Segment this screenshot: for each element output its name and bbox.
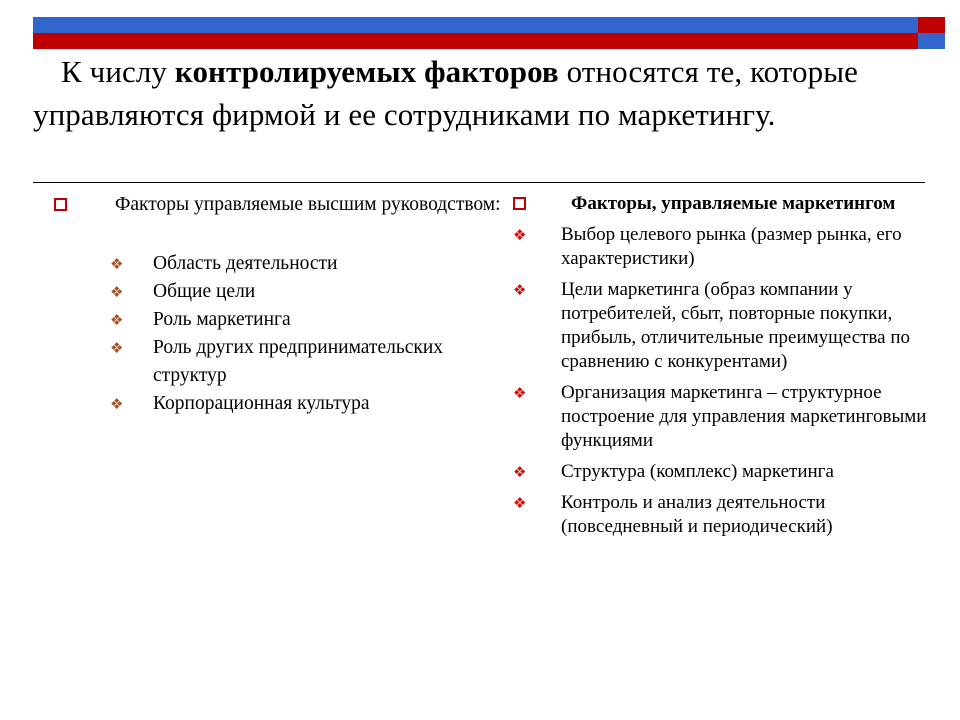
- content-column-right: Факторы, управляемые маркетингом ❖ Выбор…: [503, 192, 933, 539]
- right-bullet-list: Факторы, управляемые маркетингом ❖ Выбор…: [503, 192, 933, 539]
- decoration-bar-bottom-blue-segment: [918, 33, 945, 49]
- diamond-bullet-icon: ❖: [513, 381, 539, 405]
- list-item: ❖ Область деятельности: [48, 250, 503, 278]
- list-item: ❖ Роль маркетинга: [48, 306, 503, 334]
- list-item-label: Общие цели: [153, 278, 503, 306]
- list-item: ❖ Выбор целевого рынка (размер рынка, ег…: [503, 223, 933, 271]
- list-item-label: Роль маркетинга: [153, 306, 503, 334]
- list-item-label: Корпорационная культура: [153, 390, 503, 418]
- title-emphasis-text: контролируемых факторов: [175, 54, 559, 89]
- list-item-label: Выбор целевого рынка (размер рынка, его …: [561, 223, 933, 271]
- decoration-bar-bottom-red-segment: [33, 33, 918, 49]
- right-column-heading-label: Факторы, управляемые маркетингом: [561, 192, 933, 216]
- left-bullet-list: Факторы управляемые высшим руководством:: [48, 192, 503, 217]
- square-bullet-icon: [513, 193, 539, 217]
- list-item: ❖ Структура (комплекс) маркетинга: [503, 460, 933, 484]
- diamond-bullet-icon: ❖: [110, 390, 136, 418]
- square-bullet-icon: [54, 193, 80, 218]
- list-item: ❖ Корпорационная культура: [48, 390, 503, 418]
- content-column-left: Факторы управляемые высшим руководством:…: [48, 192, 503, 418]
- title-lead-text: К числу: [61, 54, 175, 89]
- left-sub-bullet-list: ❖ Область деятельности ❖ Общие цели ❖ Ро…: [48, 250, 503, 418]
- decoration-bar-top-blue-segment: [33, 17, 918, 33]
- slide-title: К числу контролируемых факторов относятс…: [33, 50, 933, 136]
- list-item-label: Структура (комплекс) маркетинга: [561, 460, 933, 484]
- header-decoration-bars: [33, 17, 945, 49]
- right-column-heading-item: Факторы, управляемые маркетингом: [503, 192, 933, 216]
- left-column-heading-item: Факторы управляемые высшим руководством:: [48, 192, 503, 217]
- list-item: ❖ Цели маркетинга (образ компании у потр…: [503, 278, 933, 374]
- list-item: ❖ Организация маркетинга – структурное п…: [503, 381, 933, 453]
- diamond-bullet-icon: ❖: [110, 306, 136, 334]
- diamond-bullet-icon: ❖: [110, 250, 136, 278]
- body-columns: Факторы управляемые высшим руководством:…: [0, 192, 960, 539]
- list-item-label: Область деятельности: [153, 250, 503, 278]
- diamond-bullet-icon: ❖: [110, 278, 136, 306]
- left-column-heading-label: Факторы управляемые высшим руководством:: [103, 192, 503, 217]
- diamond-bullet-icon: ❖: [513, 491, 539, 515]
- list-item-label: Роль других предпринимательских структур: [153, 334, 503, 390]
- list-item: ❖ Общие цели: [48, 278, 503, 306]
- list-item-label: Контроль и анализ деятельности (повседне…: [561, 491, 933, 539]
- slide-title-block: К числу контролируемых факторов относятс…: [33, 50, 933, 136]
- list-item: ❖ Роль других предпринимательских структ…: [48, 334, 503, 390]
- diamond-bullet-icon: ❖: [513, 460, 539, 484]
- diamond-bullet-icon: ❖: [110, 334, 136, 362]
- list-item-label: Цели маркетинга (образ компании у потреб…: [561, 278, 933, 374]
- list-item: ❖ Контроль и анализ деятельности (повсед…: [503, 491, 933, 539]
- decoration-bar-bottom-row: [33, 33, 945, 49]
- decoration-bar-top-red-segment: [918, 17, 945, 33]
- list-item-label: Организация маркетинга – структурное пос…: [561, 381, 933, 453]
- decoration-bar-top-row: [33, 17, 945, 33]
- diamond-bullet-icon: ❖: [513, 278, 539, 302]
- title-divider-line: [33, 182, 925, 183]
- diamond-bullet-icon: ❖: [513, 223, 539, 247]
